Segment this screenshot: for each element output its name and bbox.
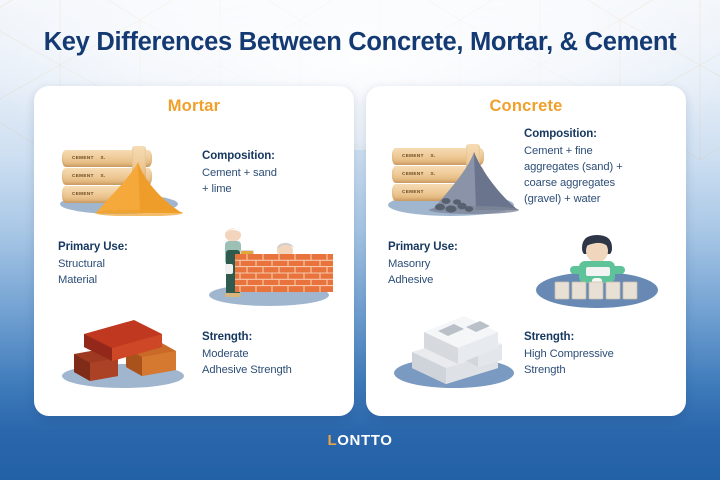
illustration-cement-bags-with-gravel-pile: CEMENT CEMENT S. CEMENT S.: [386, 136, 518, 220]
infographic-canvas: Key Differences Between Concrete, Mortar…: [0, 0, 720, 480]
card-title-concrete: Concrete: [366, 97, 686, 116]
illustration-stacked-red-bricks: [56, 314, 190, 394]
row-primary-use-mortar: Primary Use: Structural Material: [58, 241, 198, 289]
brand-logo[interactable]: LONTTO: [0, 432, 720, 449]
card-mortar[interactable]: Mortar CEMENT CEMENT S. CEMENT S. Co: [34, 86, 354, 416]
row-label: Strength:: [524, 331, 684, 343]
row-label: Composition:: [524, 128, 684, 140]
row-primary-use-concrete: Primary Use: Masonry Adhesive: [388, 241, 528, 289]
row-value: Moderate Adhesive Strength: [202, 347, 354, 379]
row-composition-concrete: Composition: Cement + fine aggregates (s…: [524, 128, 684, 208]
card-concrete[interactable]: Concrete CEMENT CEMENT S. CEMENT S.: [366, 86, 686, 416]
row-value: Cement + sand + lime: [202, 166, 342, 198]
row-label: Primary Use:: [388, 241, 528, 253]
row-composition-mortar: Composition: Cement + sand + lime: [202, 150, 342, 198]
illustration-bricklayers-building-brick-wall: [199, 226, 335, 308]
page-title: Key Differences Between Concrete, Mortar…: [0, 28, 720, 57]
card-title-mortar: Mortar: [34, 97, 354, 116]
row-value: Masonry Adhesive: [388, 257, 528, 289]
illustration-cement-bags-with-sand-pile: CEMENT CEMENT S. CEMENT S.: [56, 138, 184, 216]
footer: LONTTO: [0, 418, 720, 480]
row-value: Structural Material: [58, 257, 198, 289]
row-label: Strength:: [202, 331, 354, 343]
row-strength-mortar: Strength: Moderate Adhesive Strength: [202, 331, 354, 379]
row-value: High Compressive Strength: [524, 347, 684, 379]
row-value: Cement + fine aggregates (sand) + coarse…: [524, 144, 684, 208]
logo-mark: L: [328, 432, 338, 449]
row-strength-concrete: Strength: High Compressive Strength: [524, 331, 684, 379]
comparison-cards: Mortar CEMENT CEMENT S. CEMENT S. Co: [34, 86, 686, 416]
illustration-worker-making-concrete-blocks: [528, 234, 664, 314]
logo-text: ONTTO: [337, 432, 392, 449]
illustration-hollow-concrete-blocks: [386, 308, 522, 396]
row-label: Composition:: [202, 150, 342, 162]
row-label: Primary Use:: [58, 241, 198, 253]
